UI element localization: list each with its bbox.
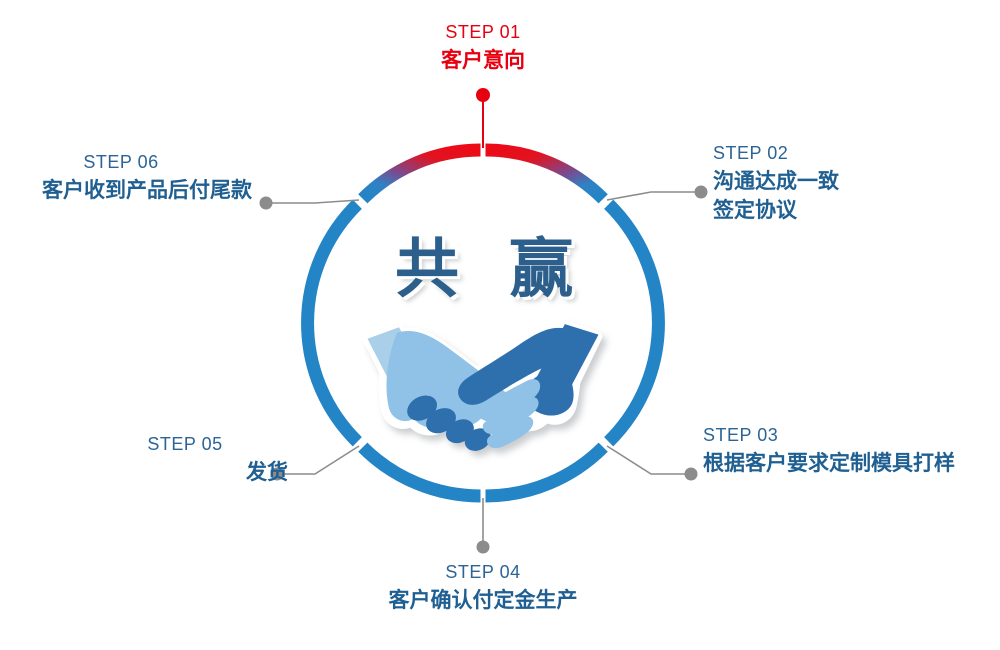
step-text-05: 发货 [108, 459, 288, 486]
arc-segment-3 [486, 447, 604, 496]
dot-step06 [260, 197, 273, 210]
step-item-02[interactable]: STEP 02 沟通达成一致 签定协议 [713, 143, 839, 224]
arc-segment-2 [609, 204, 659, 441]
arc-segment-6 [363, 150, 481, 199]
step-label-04: STEP 04 [383, 562, 583, 584]
step-item-05[interactable]: STEP 05 发货 [108, 434, 288, 485]
dot-step01 [476, 88, 490, 102]
step-text-03: 根据客户要求定制模具打样 [703, 450, 955, 477]
step-label-03: STEP 03 [703, 425, 955, 447]
step-text-01: 客户意向 [383, 47, 583, 74]
step-label-01: STEP 01 [383, 22, 583, 44]
center-title: 共 赢 [395, 218, 575, 310]
step-label-05: STEP 05 [108, 434, 288, 456]
step-item-06[interactable]: STEP 06 客户收到产品后付尾款 [0, 152, 252, 203]
infographic-canvas: 共 赢 STEP 01 客户意向 STEP 02 沟通达成一致 签定协议 STE… [0, 0, 1000, 650]
connector-lines [265, 100, 700, 542]
process-circle-diagram [0, 0, 1000, 650]
arc-segment-5 [308, 204, 358, 441]
step-text-02-line2: 签定协议 [713, 197, 839, 224]
connector-dots [260, 88, 708, 554]
arc-segment-4 [363, 447, 481, 496]
connector-step03 [607, 446, 690, 474]
step-text-04: 客户确认付定金生产 [383, 587, 583, 614]
step-label-06: STEP 06 [0, 152, 252, 174]
step-item-03[interactable]: STEP 03 根据客户要求定制模具打样 [703, 425, 955, 476]
arc-segment-1 [486, 150, 604, 199]
dot-step03 [685, 468, 698, 481]
connector-step05 [276, 446, 359, 474]
connector-step02 [607, 192, 700, 200]
step-item-04[interactable]: STEP 04 客户确认付定金生产 [383, 562, 583, 613]
connector-step06 [265, 200, 359, 203]
dot-step02 [695, 186, 708, 199]
dot-step04 [477, 541, 490, 554]
step-label-02: STEP 02 [713, 143, 839, 165]
step-item-01[interactable]: STEP 01 客户意向 [383, 22, 583, 73]
handshake-icon [368, 324, 599, 455]
step-text-06: 客户收到产品后付尾款 [0, 177, 252, 204]
step-text-02: 沟通达成一致 [713, 168, 839, 195]
